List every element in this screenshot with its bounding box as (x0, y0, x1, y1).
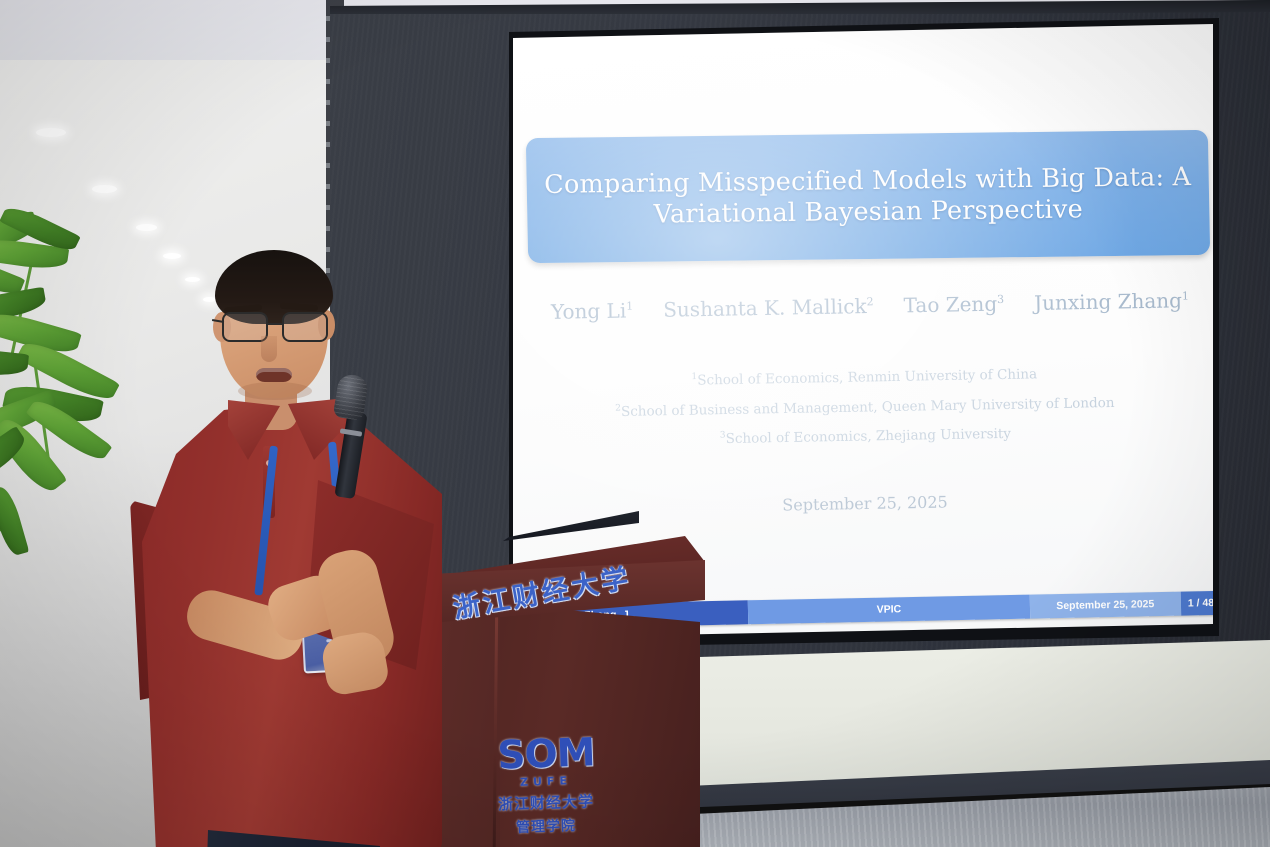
downlight-1 (36, 128, 66, 137)
affiliation-list: 1School of Economics, Renmin University … (524, 363, 1206, 464)
affiliation-3: 3School of Economics, Zhejiang Universit… (525, 422, 1205, 451)
author-3: Tao Zeng3 (903, 292, 1004, 318)
slide-title: Comparing Misspecified Models with Big D… (528, 162, 1208, 230)
footer-page-number: 1 / 48 (1181, 591, 1213, 616)
presentation-photo: Comparing Misspecified Models with Big D… (0, 0, 1270, 847)
logo-chinese-line1: 浙江财经大学 (476, 790, 617, 816)
author-1-mark: 1 (626, 300, 633, 313)
footer-date: September 25, 2025 (1029, 592, 1181, 619)
glasses-bridge (268, 323, 284, 325)
podium-logo: SOM ZUFE 浙江财经大学 管理学院 (476, 736, 616, 846)
footer-short-title: VPIC (748, 595, 1030, 625)
author-4-mark: 1 (1182, 289, 1189, 302)
speaker-mouth (256, 368, 292, 382)
plant-leaf-15 (0, 484, 29, 557)
author-3-mark: 3 (997, 293, 1004, 306)
author-1: Yong Li1 (551, 298, 634, 324)
slide-title-line1: Comparing Misspecified Models with Big D… (544, 162, 1191, 200)
slide-title-line2: Variational Bayesian Perspective (653, 194, 1083, 229)
affiliation-2: 2School of Business and Management, Quee… (525, 392, 1205, 421)
glasses-lens-right (282, 312, 328, 342)
speaker-nose (261, 336, 277, 362)
author-2: Sushanta K. Mallick2 (663, 294, 874, 322)
logo-som-text: SOM (475, 734, 616, 776)
logo-chinese-line2: 管理学院 (476, 814, 617, 839)
author-list: Yong Li1 Sushanta K. Mallick2 Tao Zeng3 … (545, 288, 1195, 324)
speaker-chin-shadow (238, 382, 312, 400)
projection-screen[interactable]: Comparing Misspecified Models with Big D… (505, 24, 1213, 638)
potted-plant (0, 190, 200, 620)
presentation-slide: Comparing Misspecified Models with Big D… (505, 24, 1213, 638)
author-4: Junxing Zhang1 (1034, 288, 1189, 315)
slide-title-box: Comparing Misspecified Models with Big D… (526, 130, 1210, 263)
author-2-mark: 2 (866, 295, 873, 308)
affiliation-1: 1School of Economics, Renmin University … (524, 363, 1204, 392)
